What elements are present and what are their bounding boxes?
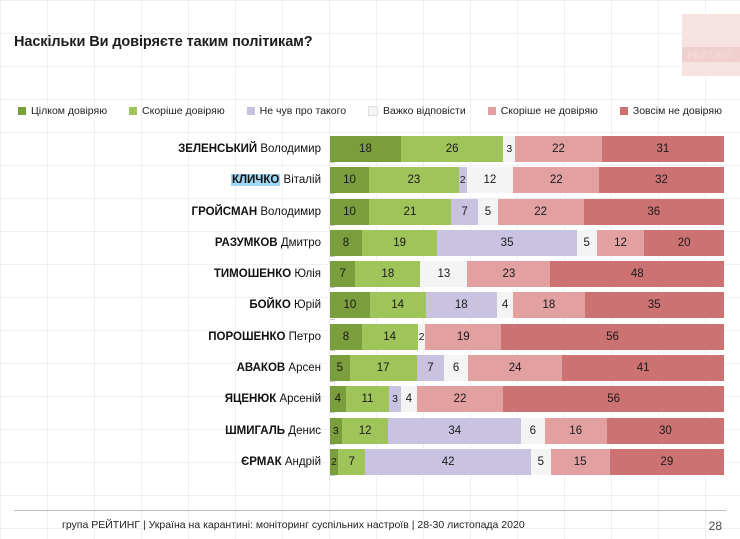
- legend-item-2[interactable]: Скоріше довіряю: [129, 105, 225, 117]
- bar-segment-rather-trust[interactable]: 18: [355, 261, 420, 287]
- bar-segment-rather-trust[interactable]: 14: [362, 324, 418, 350]
- bar-segment-fully-trust[interactable]: 8: [330, 324, 362, 350]
- bar-segment-hard-to-answer[interactable]: 13: [420, 261, 467, 287]
- axis-tick: [330, 193, 335, 194]
- stacked-bar: 182632231: [330, 136, 724, 162]
- bar-segment-rather-trust[interactable]: 19: [362, 230, 438, 256]
- bar-segment-rather-trust[interactable]: 21: [369, 199, 451, 225]
- stacked-bar: 517762441: [330, 355, 724, 381]
- chart-row[interactable]: БОЙКО Юрій10141841835: [0, 292, 740, 318]
- stacked-bar: 10141841835: [330, 292, 724, 318]
- politician-given-name: Віталій: [284, 174, 321, 186]
- stacked-bar: 1021752236: [330, 199, 724, 225]
- legend-label: Скоріше довіряю: [142, 105, 225, 117]
- politician-name-label[interactable]: КЛИЧКО Віталій: [0, 174, 330, 186]
- chart-row[interactable]: ЄРМАК Андрій274251529: [0, 449, 740, 475]
- bar-segment-fully-trust[interactable]: 10: [330, 199, 369, 225]
- bar-segment-hard-to-answer[interactable]: 6: [521, 418, 544, 444]
- bar-segment-rather-distrust[interactable]: 15: [551, 449, 610, 475]
- politician-name-label[interactable]: ЄРМАК Андрій: [0, 456, 330, 468]
- bar-segment-rather-trust[interactable]: 7: [338, 449, 366, 475]
- legend-item-6[interactable]: Зовсім не довіряю: [620, 105, 722, 117]
- stacked-bar: 718132348: [330, 261, 724, 287]
- bar-segment-never-heard[interactable]: 3: [389, 386, 401, 412]
- politician-given-name: Дмитро: [281, 237, 321, 249]
- bar-segment-rather-distrust[interactable]: 16: [545, 418, 607, 444]
- politician-name-label[interactable]: ТИМОШЕНКО Юлія: [0, 268, 330, 280]
- bar-segment-never-heard[interactable]: 2: [459, 167, 467, 193]
- legend-label: Не чув про такого: [260, 105, 346, 117]
- bar-segment-hard-to-answer[interactable]: 12: [467, 167, 514, 193]
- bar-segment-hard-to-answer[interactable]: 5: [531, 449, 551, 475]
- bar-segment-fully-trust[interactable]: 3: [330, 418, 342, 444]
- legend-label: Цілком довіряю: [31, 105, 107, 117]
- chart-row[interactable]: ПОРОШЕНКО Петро81421956: [0, 324, 740, 350]
- axis-tick: [330, 381, 335, 382]
- legend-swatch-icon: [129, 107, 137, 115]
- stacked-bar: 81421956: [330, 324, 724, 350]
- bar-segment-fully-distrust[interactable]: 41: [562, 355, 724, 381]
- legend-label: Зовсім не довіряю: [633, 105, 722, 117]
- bar-segment-rather-trust[interactable]: 17: [350, 355, 417, 381]
- politician-surname: ЄРМАК: [241, 456, 282, 468]
- bar-segment-fully-trust[interactable]: 10: [330, 292, 370, 318]
- bar-segment-fully-trust[interactable]: 7: [330, 261, 355, 287]
- legend-item-1[interactable]: Цілком довіряю: [18, 105, 107, 117]
- politician-given-name: Арсен: [288, 362, 321, 374]
- bar-segment-hard-to-answer[interactable]: 6: [444, 355, 468, 381]
- stacked-bar: 411342256: [330, 386, 724, 412]
- chart-row[interactable]: ЗЕЛЕНСЬКИЙ Володимир182632231: [0, 136, 740, 162]
- bar-segment-rather-distrust[interactable]: 19: [425, 324, 501, 350]
- bar-segment-hard-to-answer[interactable]: 4: [401, 386, 417, 412]
- legend-swatch-icon: [488, 107, 496, 115]
- bar-segment-rather-trust[interactable]: 23: [369, 167, 459, 193]
- politician-name-label[interactable]: ШМИГАЛЬ Денис: [0, 425, 330, 437]
- bar-segment-fully-trust[interactable]: 4: [330, 386, 346, 412]
- bar-segment-fully-distrust[interactable]: 56: [501, 324, 724, 350]
- bar-segment-rather-distrust[interactable]: 22: [515, 136, 602, 162]
- stacked-bar: 10232122232: [330, 167, 724, 193]
- bar-segment-rather-distrust[interactable]: 22: [513, 167, 599, 193]
- chart-row[interactable]: АВАКОВ Арсен517762441: [0, 355, 740, 381]
- legend-swatch-icon: [368, 106, 378, 116]
- chart-row[interactable]: ЯЦЕНЮК Арсеній411342256: [0, 386, 740, 412]
- bar-segment-fully-distrust[interactable]: 48: [550, 261, 724, 287]
- bar-segment-rather-trust[interactable]: 12: [342, 418, 389, 444]
- legend-swatch-icon: [247, 107, 255, 115]
- axis-tick: [330, 350, 335, 351]
- bar-segment-rather-trust[interactable]: 26: [401, 136, 503, 162]
- politician-given-name: Денис: [288, 425, 321, 437]
- bar-segment-hard-to-answer[interactable]: 3: [503, 136, 515, 162]
- bar-segment-rather-distrust[interactable]: 22: [417, 386, 504, 412]
- bar-segment-fully-distrust[interactable]: 31: [602, 136, 724, 162]
- bar-segment-fully-trust[interactable]: 8: [330, 230, 362, 256]
- politician-given-name: Петро: [289, 331, 321, 343]
- politician-surname: ШМИГАЛЬ: [225, 425, 285, 437]
- stacked-bar-chart: ЗЕЛЕНСЬКИЙ Володимир182632231КЛИЧКО Віта…: [0, 136, 740, 480]
- politician-name-label[interactable]: БОЙКО Юрій: [0, 299, 330, 311]
- politician-surname: РАЗУМКОВ: [215, 237, 278, 249]
- bar-segment-fully-trust[interactable]: 18: [330, 136, 401, 162]
- politician-surname: ПОРОШЕНКО: [208, 331, 285, 343]
- stacked-bar: 8193551220: [330, 230, 724, 256]
- politician-surname: ЯЦЕНЮК: [225, 393, 277, 405]
- bar-segment-never-heard[interactable]: 7: [451, 199, 478, 225]
- axis-tick: [330, 444, 335, 445]
- chart-row[interactable]: РАЗУМКОВ Дмитро8193551220: [0, 230, 740, 256]
- politician-given-name: Арсеній: [279, 393, 321, 405]
- bar-segment-hard-to-answer[interactable]: 4: [497, 292, 513, 318]
- politician-given-name: Юлія: [294, 268, 321, 280]
- bar-segment-never-heard[interactable]: 42: [365, 449, 530, 475]
- bar-segment-rather-distrust[interactable]: 24: [468, 355, 563, 381]
- bar-segment-fully-distrust[interactable]: 56: [503, 386, 724, 412]
- axis-tick: [330, 475, 335, 476]
- politician-name-label[interactable]: ЗЕЛЕНСЬКИЙ Володимир: [0, 143, 330, 155]
- bar-segment-fully-trust[interactable]: 5: [330, 355, 350, 381]
- legend-label: Скоріше не довіряю: [501, 105, 598, 117]
- bar-segment-fully-trust[interactable]: 10: [330, 167, 369, 193]
- slide-canvas: РЕЙТИНГ Наскільки Ви довіряєте таким пол…: [0, 0, 740, 539]
- bar-segment-fully-distrust[interactable]: 29: [610, 449, 724, 475]
- politician-surname: ТИМОШЕНКО: [214, 268, 291, 280]
- footer-divider: [14, 510, 726, 511]
- bar-segment-fully-distrust[interactable]: 32: [599, 167, 724, 193]
- politician-surname: ГРОЙСМАН: [192, 206, 258, 218]
- stacked-bar: 3123461630: [330, 418, 724, 444]
- bar-segment-hard-to-answer[interactable]: 5: [577, 230, 597, 256]
- chart-row[interactable]: ШМИГАЛЬ Денис3123461630: [0, 418, 740, 444]
- bar-segment-never-heard[interactable]: 18: [426, 292, 498, 318]
- bar-segment-fully-distrust[interactable]: 36: [584, 199, 724, 225]
- bar-segment-rather-distrust[interactable]: 12: [597, 230, 645, 256]
- politician-surname: КЛИЧКО: [231, 174, 280, 186]
- chart-row[interactable]: ГРОЙСМАН Володимир1021752236: [0, 199, 740, 225]
- page-title: Наскільки Ви довіряєте таким політикам?: [14, 34, 313, 50]
- bar-segment-hard-to-answer[interactable]: 2: [418, 324, 426, 350]
- politician-given-name: Володимир: [260, 143, 321, 155]
- axis-tick: [330, 319, 335, 320]
- axis-tick: [330, 162, 335, 163]
- bar-segment-fully-distrust[interactable]: 35: [585, 292, 724, 318]
- legend-item-4[interactable]: Важко відповісти: [368, 105, 466, 117]
- legend-item-5[interactable]: Скоріше не довіряю: [488, 105, 598, 117]
- bar-segment-rather-distrust[interactable]: 23: [467, 261, 550, 287]
- legend-item-3[interactable]: Не чув про такого: [247, 105, 346, 117]
- stacked-bar: 274251529: [330, 449, 724, 475]
- page-number: 28: [709, 519, 722, 533]
- chart-row[interactable]: ТИМОШЕНКО Юлія718132348: [0, 261, 740, 287]
- axis-tick: [330, 412, 335, 413]
- politician-given-name: Андрій: [285, 456, 321, 468]
- legend-label: Важко відповісти: [383, 105, 466, 117]
- bar-segment-never-heard[interactable]: 7: [417, 355, 445, 381]
- politician-name-label[interactable]: ГРОЙСМАН Володимир: [0, 206, 330, 218]
- politician-name-label[interactable]: РАЗУМКОВ Дмитро: [0, 237, 330, 249]
- bar-segment-never-heard[interactable]: 35: [437, 230, 576, 256]
- bar-segment-rather-trust[interactable]: 14: [370, 292, 426, 318]
- footer-source-text: група РЕЙТИНГ | Україна на карантині: мо…: [62, 519, 525, 531]
- axis-tick: [330, 256, 335, 257]
- bar-segment-rather-trust[interactable]: 11: [346, 386, 389, 412]
- bar-segment-never-heard[interactable]: 34: [388, 418, 521, 444]
- politician-name-label[interactable]: ЯЦЕНЮК Арсеній: [0, 393, 330, 405]
- politician-given-name: Юрій: [294, 299, 321, 311]
- legend-swatch-icon: [18, 107, 26, 115]
- axis-tick: [330, 225, 335, 226]
- bar-segment-fully-distrust[interactable]: 30: [607, 418, 724, 444]
- chart-legend: Цілком довіряюСкоріше довіряюНе чув про …: [18, 105, 726, 117]
- politician-surname: БОЙКО: [249, 299, 290, 311]
- chart-row[interactable]: КЛИЧКО Віталій10232122232: [0, 167, 740, 193]
- legend-swatch-icon: [620, 107, 628, 115]
- logo-text: РЕЙТИНГ: [682, 50, 740, 61]
- politician-given-name: Володимир: [260, 206, 321, 218]
- politician-surname: АВАКОВ: [237, 362, 286, 374]
- bar-segment-hard-to-answer[interactable]: 5: [478, 199, 498, 225]
- bar-segment-fully-distrust[interactable]: 20: [644, 230, 724, 256]
- rating-group-logo: РЕЙТИНГ: [682, 14, 740, 76]
- axis-tick: [330, 287, 335, 288]
- politician-surname: ЗЕЛЕНСЬКИЙ: [178, 143, 257, 155]
- bar-segment-rather-distrust[interactable]: 22: [498, 199, 584, 225]
- politician-name-label[interactable]: АВАКОВ Арсен: [0, 362, 330, 374]
- bar-segment-fully-trust[interactable]: 2: [330, 449, 338, 475]
- politician-name-label[interactable]: ПОРОШЕНКО Петро: [0, 331, 330, 343]
- bar-segment-rather-distrust[interactable]: 18: [513, 292, 585, 318]
